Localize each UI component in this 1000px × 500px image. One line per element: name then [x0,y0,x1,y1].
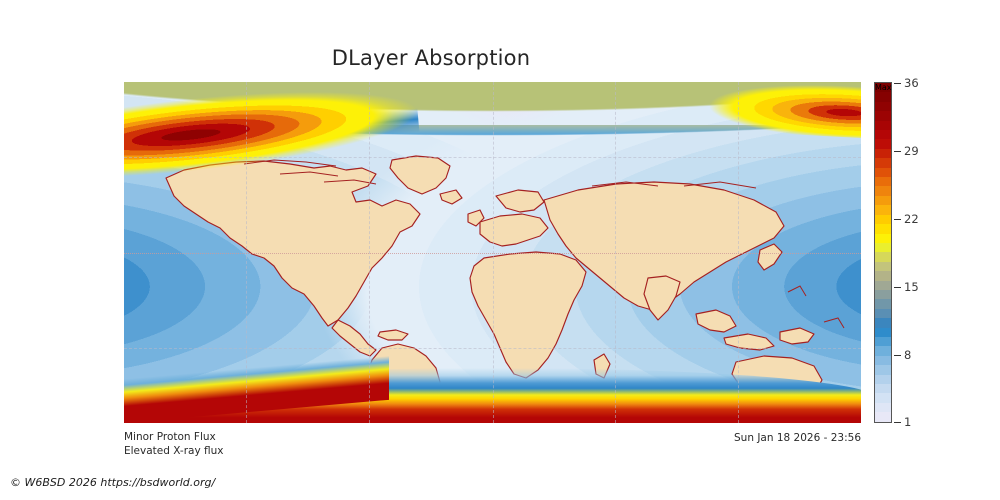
absorption-map[interactable] [124,82,861,423]
parallel-line [124,348,861,349]
colorbar-segment [875,328,891,337]
colorbar-segment [875,252,891,261]
colorbar-segment [875,186,891,195]
colorbar[interactable]: Max 36 29 22 15 8 1 Affected Frequency (… [874,82,994,423]
colorbar-segment [875,318,891,327]
colorbar-segment [875,375,891,384]
colorbar-segment [875,356,891,365]
page-title: DLayer Absorption [0,46,862,70]
flux-status-notes: Minor Proton Flux Elevated X-ray flux [124,430,223,458]
colorbar-tick [894,355,901,356]
colorbar-segment [875,309,891,318]
graticule [124,82,861,423]
equator-line [124,253,861,254]
colorbar-segment [875,337,891,346]
colorbar-segment [875,158,891,167]
colorbar-segment [875,196,891,205]
proton-flux-status: Minor Proton Flux [124,430,223,444]
colorbar-tick-label: 15 [904,280,919,294]
colorbar-segment [875,139,891,148]
colorbar-segment [875,262,891,271]
colorbar-segment [875,168,891,177]
colorbar-tick-label: 1 [904,415,911,429]
colorbar-segment [875,234,891,243]
colorbar-segment [875,281,891,290]
colorbar-segment [875,393,891,402]
xray-flux-status: Elevated X-ray flux [124,444,223,458]
colorbar-segment [875,243,891,252]
colorbar-segment [875,403,891,412]
colorbar-segment [875,92,891,101]
colorbar-segment [875,290,891,299]
colorbar-tick [894,287,901,288]
colorbar-segment [875,111,891,120]
colorbar-tick [894,83,901,84]
colorbar-segment [875,346,891,355]
colorbar-segment [875,412,891,421]
colorbar-segment [875,271,891,280]
colorbar-max-label: Max [875,83,893,92]
colorbar-tick-label: 29 [904,144,919,158]
colorbar-segment [875,102,891,111]
colorbar-segment [875,121,891,130]
colorbar-tick-label: 36 [904,76,919,90]
colorbar-gradient [874,82,892,423]
timestamp-label: Sun Jan 18 2026 - 23:56 [500,432,861,444]
colorbar-tick [894,219,901,220]
colorbar-segment [875,365,891,374]
colorbar-tick [894,422,901,423]
colorbar-segment [875,299,891,308]
colorbar-tick-label: 8 [904,348,911,362]
colorbar-segment [875,177,891,186]
colorbar-segment [875,215,891,224]
parallel-line [124,157,861,158]
copyright-label: © W6BSD 2026 https://bsdworld.org/ [10,476,215,489]
colorbar-tick-label: 22 [904,212,919,226]
colorbar-segment [875,149,891,158]
colorbar-segment [875,224,891,233]
colorbar-axis-label: Affected Frequency (MHz) [926,82,1000,423]
colorbar-segment [875,384,891,393]
colorbar-tick [894,151,901,152]
colorbar-segment [875,130,891,139]
colorbar-segment [875,205,891,214]
